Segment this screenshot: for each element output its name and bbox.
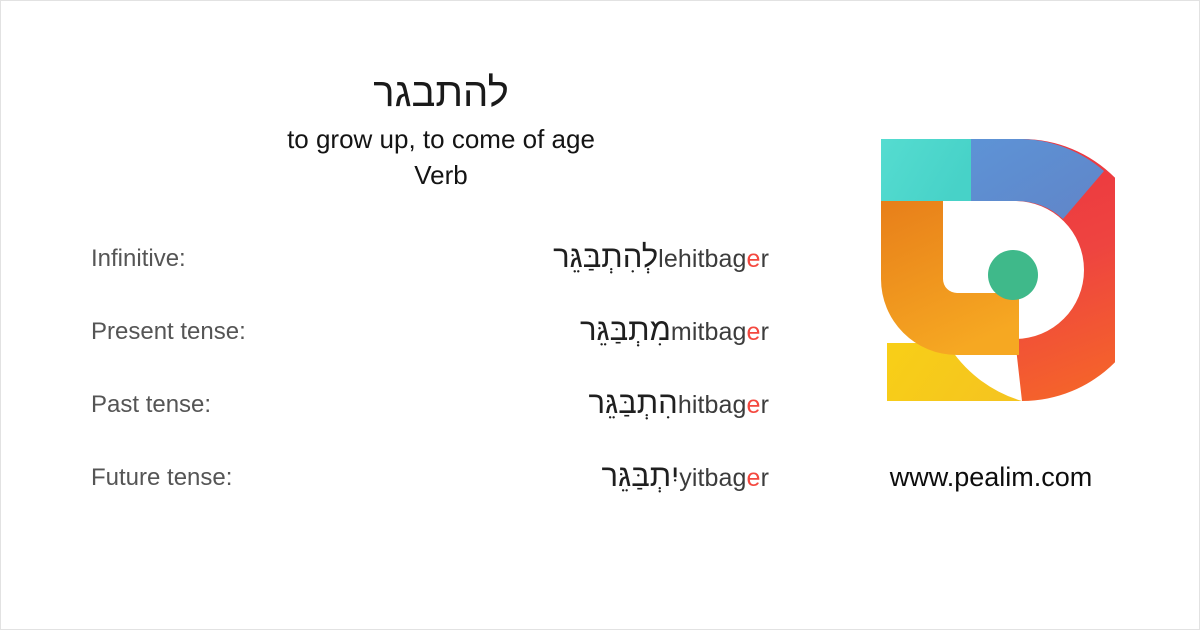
translit-stress: e (747, 391, 761, 419)
form-translit-past: hitbager (678, 382, 769, 428)
logo-arc-teal (881, 139, 971, 201)
row-label-future: Future tense: (91, 463, 232, 493)
verb-card: להתבגר to grow up, to come of age Verb I… (0, 0, 1200, 630)
row-forms: לְהִתְבַּגֵּר lehitbager (544, 234, 769, 282)
table-row: Future tense: יִתְבַּגֵּר yitbager (1, 453, 801, 526)
site-url: www.pealim.com (821, 459, 1161, 495)
table-row: Past tense: הִתְבַּגֵּר hitbager (1, 380, 801, 453)
form-translit-present: mitbager (671, 309, 769, 355)
translit-stress: e (747, 318, 761, 346)
conjugation-table: Infinitive: לְהִתְבַּגֵּר lehitbager Pre… (1, 234, 801, 526)
translit-stress: e (747, 464, 761, 492)
translit-post: r (761, 464, 769, 492)
translit-pre: yitbag (679, 464, 746, 492)
row-forms: הִתְבַּגֵּר hitbager (580, 380, 769, 428)
translit-stress: e (747, 245, 761, 273)
table-row: Infinitive: לְהִתְבַּגֵּר lehitbager (1, 234, 801, 307)
page-title-hebrew: להתבגר (1, 67, 881, 119)
logo-dot-green (988, 250, 1038, 300)
form-hebrew-present: מִתְבַּגֵּר (580, 307, 671, 353)
row-label-infinitive: Infinitive: (91, 244, 186, 274)
form-hebrew-future: יִתְבַּגֵּר (602, 453, 680, 499)
form-translit-infinitive: lehitbager (658, 236, 769, 282)
form-translit-future: yitbager (679, 455, 769, 501)
translit-pre: hitbag (678, 391, 747, 419)
pealim-logo-icon (867, 129, 1115, 411)
translit-post: r (761, 245, 769, 273)
translit-pre: lehitbag (658, 245, 746, 273)
row-forms: יִתְבַּגֵּר yitbager (593, 453, 769, 501)
verb-meaning: to grow up, to come of age (1, 121, 881, 157)
translit-post: r (761, 318, 769, 346)
header: להתבגר to grow up, to come of age Verb (1, 67, 881, 193)
translit-pre: mitbag (671, 318, 747, 346)
form-hebrew-infinitive: לְהִתְבַּגֵּר (553, 234, 658, 280)
translit-post: r (761, 391, 769, 419)
row-label-past: Past tense: (91, 390, 211, 420)
row-forms: מִתְבַּגֵּר mitbager (571, 307, 769, 355)
form-hebrew-past: הִתְבַּגֵּר (589, 380, 678, 426)
table-row: Present tense: מִתְבַּגֵּר mitbager (1, 307, 801, 380)
part-of-speech: Verb (1, 157, 881, 193)
row-label-present: Present tense: (91, 317, 246, 347)
